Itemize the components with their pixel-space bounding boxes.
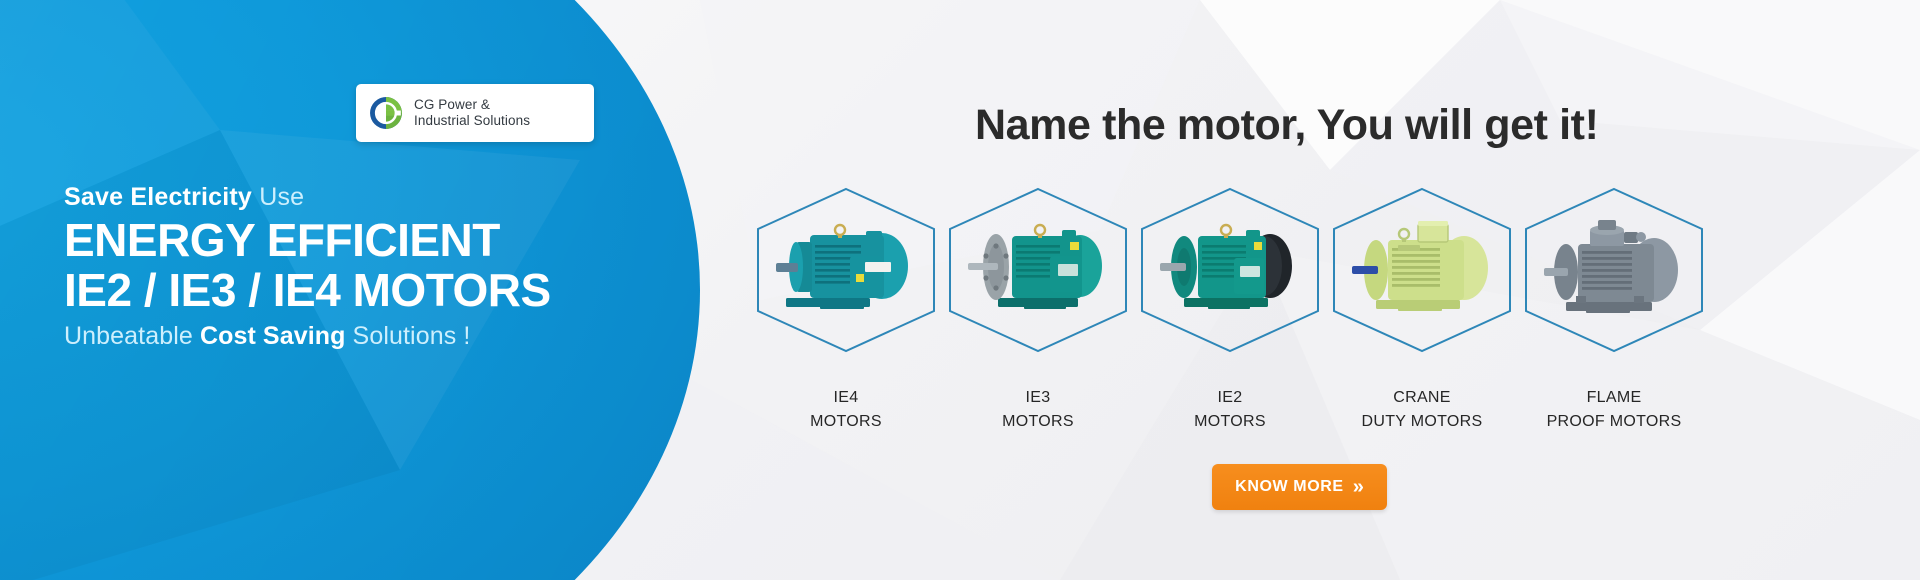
- product-hex-ie2[interactable]: [1134, 185, 1326, 355]
- cg-circular-g-mark-icon: [367, 94, 405, 132]
- subline-bold: Cost Saving: [200, 322, 346, 350]
- headline-line-2: IE2 / IE3 / IE4 MOTORS: [64, 266, 584, 314]
- double-chevron-right-icon: »: [1353, 477, 1364, 497]
- product-label-flame-proof: FLAME PROOF MOTORS: [1499, 386, 1729, 434]
- brand-logo-text: CG Power & Industrial Solutions: [414, 97, 530, 129]
- kicker-line: Save Electricity Use: [64, 182, 584, 212]
- motor-ie3-flange-icon: [962, 218, 1114, 322]
- brand-logo-card[interactable]: CG Power & Industrial Solutions: [356, 84, 594, 142]
- product-label-line1: FLAME: [1499, 386, 1729, 410]
- know-more-label: KNOW MORE: [1235, 478, 1344, 496]
- left-copy-block: Save Electricity Use ENERGY EFFICIENT IE…: [64, 182, 584, 352]
- product-hex-crane-duty[interactable]: [1326, 185, 1518, 355]
- subline: Unbeatable Cost Saving Solutions !: [64, 320, 584, 352]
- promo-banner: CG Power & Industrial Solutions Save Ele…: [0, 0, 1920, 580]
- product-label-row: IE4 MOTORS IE3 MOTORS IE2 MOTORS CRANE D…: [750, 386, 1710, 444]
- subline-post: Solutions !: [346, 322, 471, 350]
- subline-pre: Unbeatable: [64, 322, 200, 350]
- product-hexagon-row: [750, 185, 1710, 355]
- know-more-button[interactable]: KNOW MORE »: [1212, 464, 1387, 510]
- motor-ie2-icon: [1154, 218, 1306, 322]
- motor-flame-proof-icon: [1538, 218, 1690, 322]
- product-hex-ie3[interactable]: [942, 185, 1134, 355]
- kicker-light: Use: [252, 183, 304, 211]
- motor-crane-duty-icon: [1346, 218, 1498, 322]
- right-headline: Name the motor, You will get it!: [975, 100, 1599, 150]
- kicker-bold: Save Electricity: [64, 183, 252, 211]
- product-label-line2: PROOF MOTORS: [1499, 410, 1729, 434]
- brand-logo-line2: Industrial Solutions: [414, 113, 530, 129]
- product-hex-flame-proof[interactable]: [1518, 185, 1710, 355]
- product-hex-ie4[interactable]: [750, 185, 942, 355]
- motor-ie4-icon: [770, 218, 922, 322]
- brand-logo-line1: CG Power &: [414, 97, 530, 113]
- headline-line-1: ENERGY EFFICIENT: [64, 216, 584, 264]
